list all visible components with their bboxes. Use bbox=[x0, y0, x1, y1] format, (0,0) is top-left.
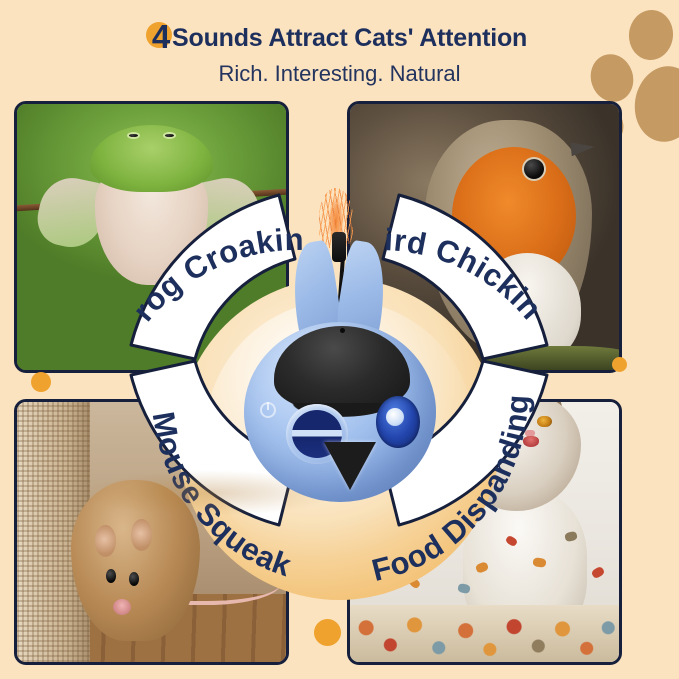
mouse-eye-left bbox=[106, 569, 116, 584]
mouse-eye-right bbox=[129, 572, 139, 587]
device-mic-hole bbox=[340, 328, 345, 333]
page-subtitle: Rich. Interesting. Natural bbox=[0, 61, 679, 87]
power-icon[interactable] bbox=[260, 402, 276, 418]
mouse-nose bbox=[113, 599, 131, 615]
kibble-floor bbox=[350, 605, 619, 662]
page-title: 4 Sounds Attract Cats' Attention bbox=[152, 18, 527, 56]
bird-beak bbox=[570, 140, 595, 156]
cat-toy-device[interactable] bbox=[236, 186, 444, 502]
badge-number-4: 4 bbox=[152, 18, 170, 56]
device-beak bbox=[324, 442, 376, 490]
mouse-ear-right bbox=[131, 519, 152, 551]
accent-dot-left bbox=[31, 372, 51, 392]
infographic-root: 4 Sounds Attract Cats' Attention Rich. I… bbox=[0, 0, 679, 679]
device-eye bbox=[376, 396, 420, 448]
frog-head bbox=[90, 125, 214, 192]
accent-dot-bottom-center bbox=[314, 619, 341, 646]
device-body[interactable] bbox=[244, 322, 436, 502]
frog-eye-left bbox=[127, 132, 141, 139]
bird-perch bbox=[485, 346, 623, 370]
accent-dot-right bbox=[612, 357, 627, 372]
mouse-ear-left bbox=[95, 525, 116, 557]
header: 4 Sounds Attract Cats' Attention Rich. I… bbox=[0, 18, 679, 87]
title-text: Sounds Attract Cats' Attention bbox=[172, 24, 527, 52]
frog-eye-right bbox=[163, 132, 177, 139]
feather-clip bbox=[332, 232, 346, 262]
